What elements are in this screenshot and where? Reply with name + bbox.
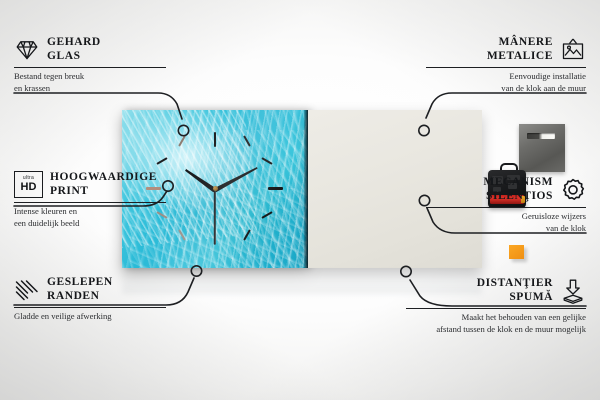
callout-title-line2: METALICE: [487, 50, 553, 64]
callout-desc-line1: Maakt het behouden van een gelijke: [406, 312, 586, 323]
clock-tick-5: [243, 229, 251, 240]
callout-header: DISTANŢIER SPUMĂ: [406, 277, 586, 304]
callout-desc-line1: Eenvoudige installatie: [426, 71, 586, 82]
clock-minute-hand: [214, 166, 258, 193]
feather-streak: [218, 130, 308, 268]
callout-title-line1: MÂNERE: [487, 36, 553, 50]
callout-mecanism-silentios: MECANISM SILENŢIOS Geruisloze wijzers va…: [426, 176, 586, 234]
callout-rule: [426, 67, 586, 68]
clock-tick-10: [156, 157, 167, 165]
callout-rule: [426, 207, 586, 208]
clock-second-hand: [214, 189, 216, 245]
callout-title-line2: RANDEN: [47, 290, 113, 304]
callout-title-line1: HOOGWAARDIGE: [50, 171, 157, 185]
callout-title-line2: GLAS: [47, 50, 101, 64]
callout-title-line2: SPUMĂ: [477, 291, 553, 305]
callout-rule: [14, 307, 166, 308]
diamond-icon: [14, 37, 40, 63]
callout-desc-line1: Geruisloze wijzers: [426, 211, 586, 222]
clock-tick-7: [178, 229, 186, 240]
ultra-hd-icon: ultra HD: [14, 171, 43, 198]
callout-header: GESLEPEN RANDEN: [14, 276, 189, 303]
callout-header: MECANISM SILENŢIOS: [426, 176, 586, 203]
foam-spacer: [509, 245, 524, 259]
callout-title-line1: GEHARD: [47, 36, 101, 50]
callout-header: MÂNERE METALICE: [426, 36, 586, 63]
callout-hoogwaardige-print: ultra HD HOOGWAARDIGE PRINT Intense kleu…: [14, 171, 189, 229]
clock-tick-11: [178, 135, 186, 146]
callout-desc-line1: Gladde en veilige afwerking: [14, 311, 189, 322]
clock-tick-2: [261, 157, 272, 165]
clock-center-cap: [213, 186, 218, 191]
callout-title-line1: GESLEPEN: [47, 276, 113, 290]
callout-rule: [406, 308, 586, 309]
callout-gehard-glas: GEHARD GLAS Bestand tegen breuk en krass…: [14, 36, 174, 94]
callout-title-line2: SILENŢIOS: [483, 190, 553, 204]
ultra-hd-icon-bottom-label: HD: [21, 182, 37, 193]
callout-desc-line2: afstand tussen de klok en de muur mogeli…: [406, 324, 586, 335]
picture-hanger-icon: [560, 37, 586, 63]
callout-distantier-spuma: DISTANŢIER SPUMĂ Maakt het behouden van …: [406, 277, 586, 335]
bevelled-edges-icon: [14, 277, 40, 303]
clock-tick-12: [214, 132, 216, 147]
callout-desc-line1: Intense kleuren en: [14, 206, 189, 217]
spacer-arrow-icon: [560, 278, 586, 304]
gear-icon: [560, 177, 586, 203]
product-infographic: GEHARD GLAS Bestand tegen breuk en krass…: [0, 0, 600, 400]
callout-title-line1: MECANISM: [483, 176, 553, 190]
callout-desc-line1: Bestand tegen breuk: [14, 71, 174, 82]
callout-title-line2: PRINT: [50, 185, 157, 199]
clock-tick-4: [261, 211, 272, 219]
callout-rule: [14, 202, 166, 203]
callout-desc-line2: van de klok: [426, 223, 586, 234]
clock-tick-3: [268, 187, 283, 190]
callout-desc-line2: en krassen: [14, 83, 174, 94]
metal-hanger-plate: [519, 124, 565, 172]
callout-title-line1: DISTANŢIER: [477, 277, 553, 291]
callout-desc-line2: van de klok aan de muur: [426, 83, 586, 94]
callout-header: GEHARD GLAS: [14, 36, 174, 63]
callout-geslepen-randen: GESLEPEN RANDEN Gladde en veilige afwerk…: [14, 276, 189, 322]
callout-header: ultra HD HOOGWAARDIGE PRINT: [14, 171, 189, 198]
callout-manere-metalice: MÂNERE METALICE Eenvoudige installatie v…: [426, 36, 586, 94]
callout-desc-line2: een duidelijk beeld: [14, 218, 189, 229]
clock-tick-1: [243, 135, 251, 146]
callout-rule: [14, 67, 166, 68]
